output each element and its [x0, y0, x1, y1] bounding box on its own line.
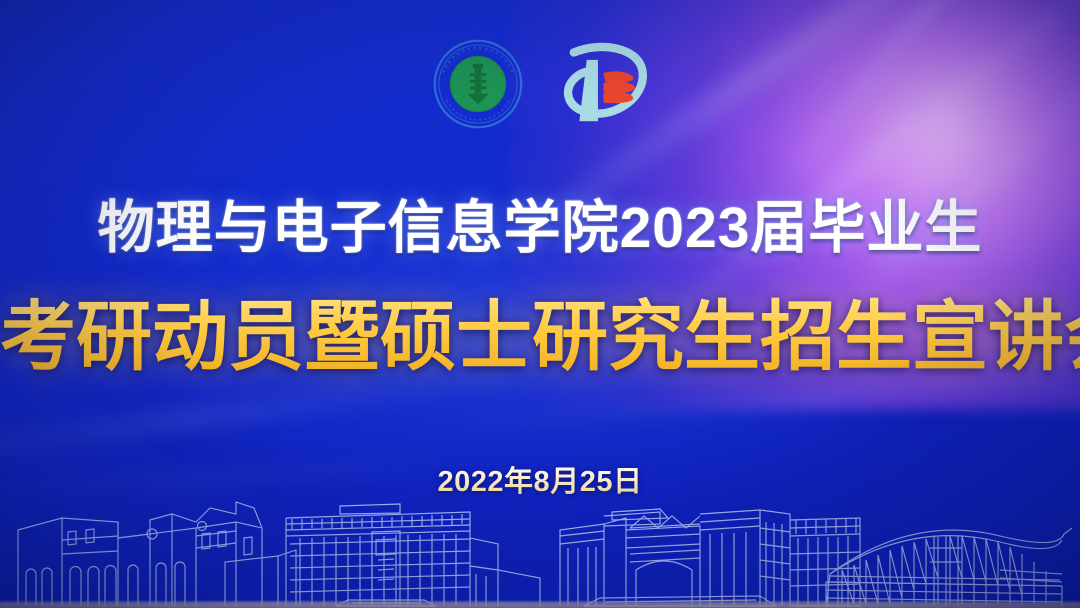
university-seal-logo: [432, 38, 524, 130]
logo-row: [0, 38, 1080, 130]
ground-strip: [0, 601, 1080, 608]
page-title-line-2: 考研动员暨硕士研究生招生宣讲会: [0, 275, 1080, 385]
building-gymnasium-arch: [826, 528, 1072, 606]
building-main-teaching: [560, 509, 790, 606]
building-teaching-block-left: [225, 504, 540, 606]
page-title-line-1: 物理与电子信息学院2023届毕业生: [0, 182, 1080, 264]
college-p-logo: [546, 38, 648, 130]
campus-building-silhouettes: [0, 478, 1080, 608]
event-banner: 物理与电子信息学院2023届毕业生 考研动员暨硕士研究生招生宣讲会 2022年8…: [0, 0, 1080, 608]
